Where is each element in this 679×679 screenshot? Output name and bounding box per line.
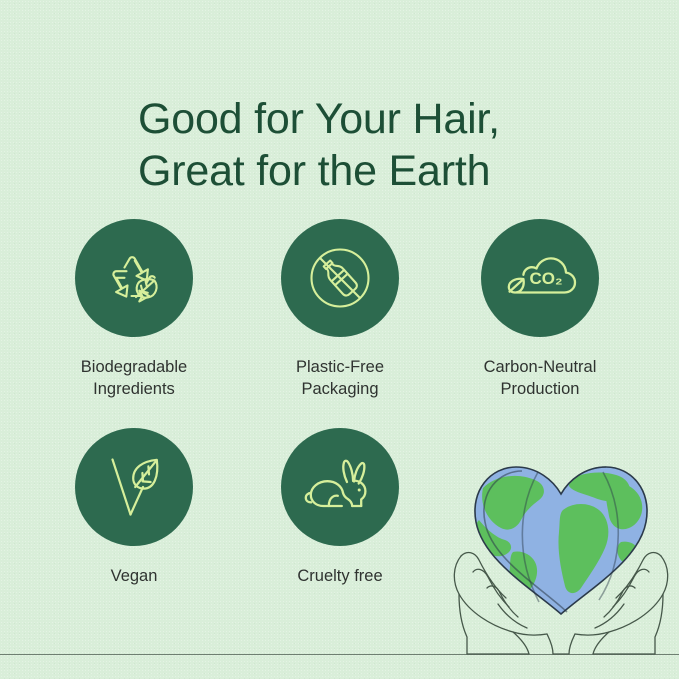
- vegan-leaf-icon: [99, 451, 169, 523]
- badge-label: Cruelty free: [255, 565, 425, 587]
- badge-label: Plastic-Free Packaging: [255, 356, 425, 400]
- badge-disc: CO₂: [481, 219, 599, 337]
- recycle-leaf-icon: [98, 242, 170, 314]
- badge-label: Carbon-Neutral Production: [455, 356, 625, 400]
- eco-benefits-poster: Good for Your Hair, Great for the Earth: [0, 0, 679, 679]
- rabbit-icon: [302, 456, 378, 518]
- badge-cruelty-free: Cruelty free: [255, 428, 425, 587]
- badge-disc: [75, 219, 193, 337]
- badge-label: Biodegradable Ingredients: [49, 356, 219, 400]
- badge-vegan: Vegan: [49, 428, 219, 587]
- no-plastic-bottle-icon: [303, 241, 377, 315]
- badge-carbon-neutral-production: CO₂ Carbon-Neutral Production: [455, 219, 625, 400]
- page-title: Good for Your Hair, Great for the Earth: [138, 93, 608, 197]
- co2-cloud-leaf-icon: CO₂: [502, 245, 578, 311]
- badge-disc: [75, 428, 193, 546]
- badge-biodegradable-ingredients: Biodegradable Ingredients: [49, 219, 219, 400]
- badge-label: Vegan: [49, 565, 219, 587]
- co2-text: CO₂: [529, 269, 562, 288]
- badge-disc: [281, 219, 399, 337]
- heart-earth-in-hands-illustration: [443, 436, 679, 679]
- badge-disc: [281, 428, 399, 546]
- baseline-rule: [0, 654, 679, 655]
- badge-plastic-free-packaging: Plastic-Free Packaging: [255, 219, 425, 400]
